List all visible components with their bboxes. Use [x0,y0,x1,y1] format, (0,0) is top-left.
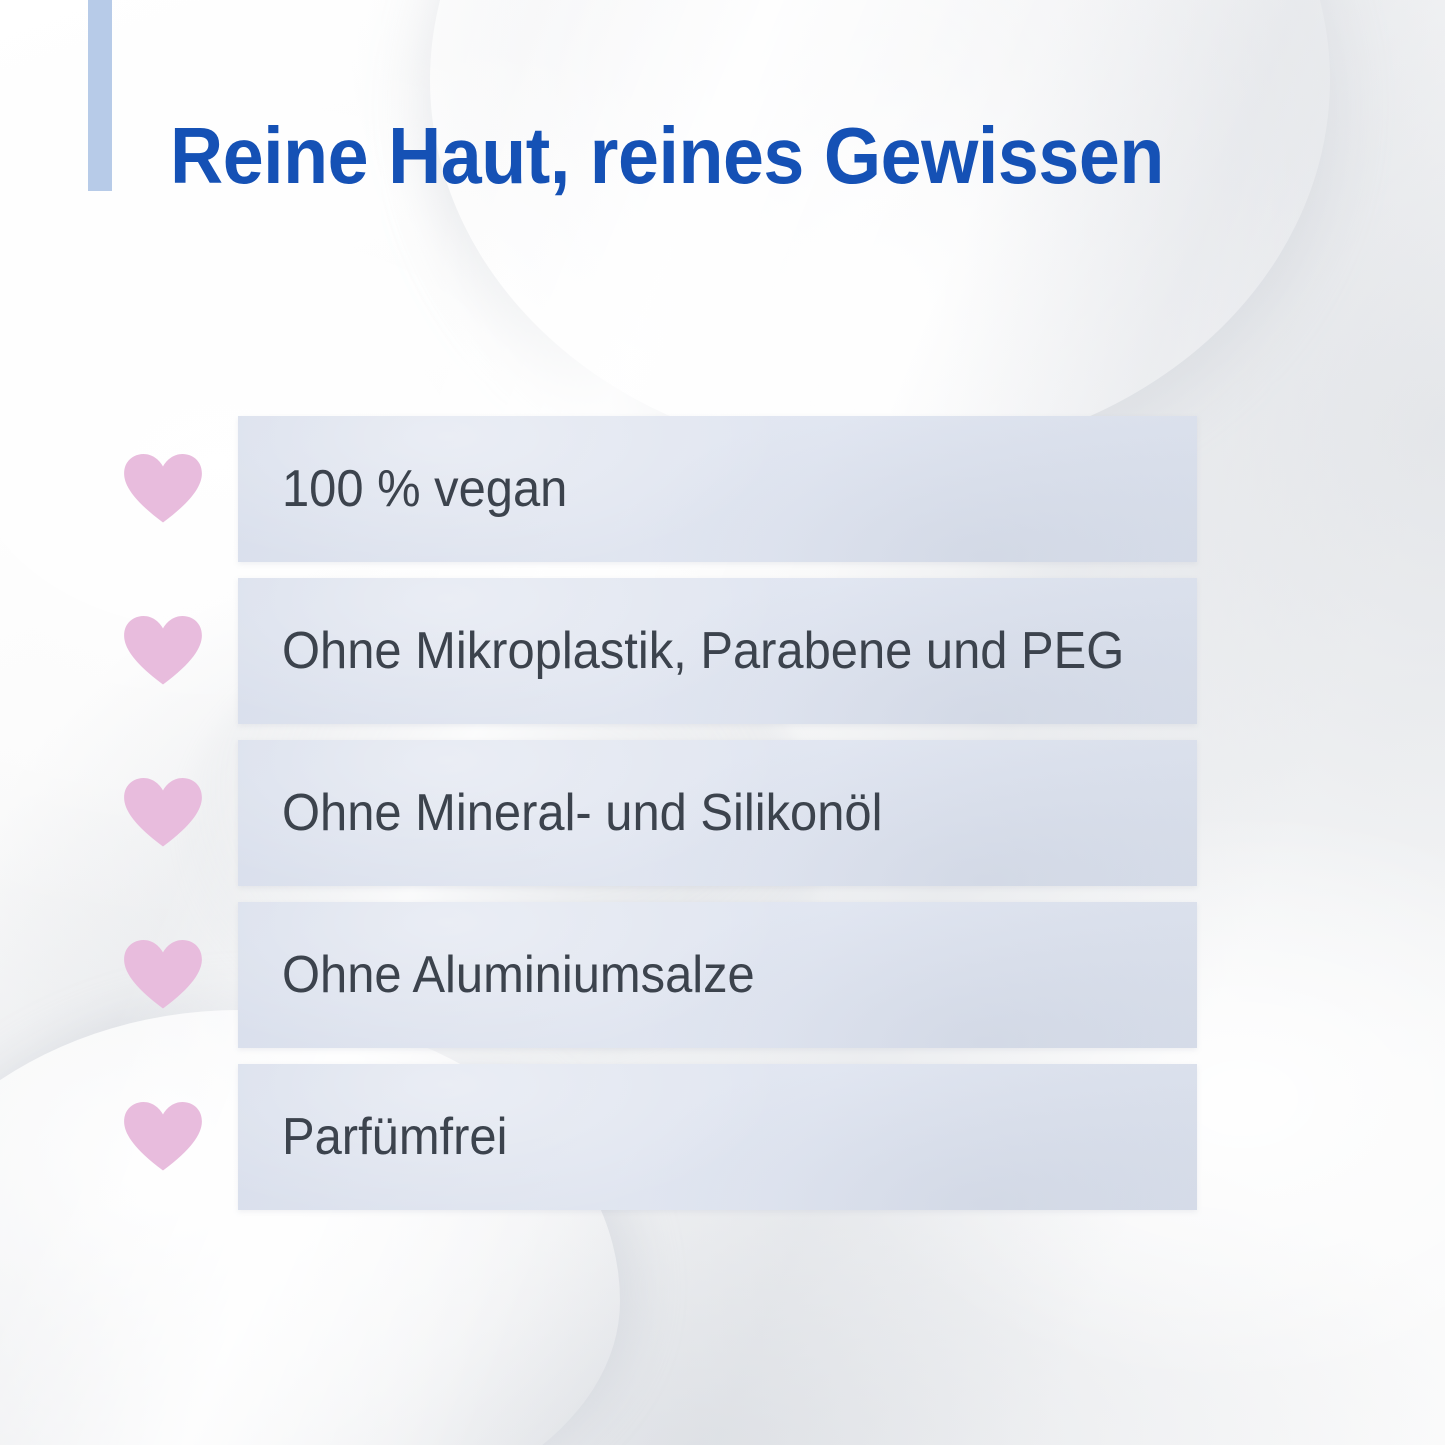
heart-icon [124,616,202,686]
title-accent-bar [88,0,112,191]
list-item: Ohne Mikroplastik, Parabene und PEG [0,578,1445,724]
heart-icon [124,778,202,848]
benefit-label: Ohne Mineral- und Silikonöl [282,783,882,843]
product-benefits-poster: Reine Haut, reines Gewissen 100 % vegan [0,0,1445,1445]
benefit-bar: 100 % vegan [238,416,1197,562]
heart-icon [124,454,202,524]
benefit-bar: Ohne Mineral- und Silikonöl [238,740,1197,886]
list-item: Parfümfrei [0,1064,1445,1210]
benefit-label: Ohne Mikroplastik, Parabene und PEG [282,621,1124,681]
benefit-list: 100 % vegan Ohne Mikroplastik, Parabene … [0,416,1445,1210]
benefit-label: 100 % vegan [282,459,567,519]
list-item: 100 % vegan [0,416,1445,562]
benefit-label: Ohne Aluminiumsalze [282,945,755,1005]
list-item: Ohne Mineral- und Silikonöl [0,740,1445,886]
benefit-label: Parfümfrei [282,1107,507,1167]
benefit-bar: Ohne Mikroplastik, Parabene und PEG [238,578,1197,724]
page-title: Reine Haut, reines Gewissen [170,108,1256,204]
benefit-bar: Ohne Aluminiumsalze [238,902,1197,1048]
heart-icon [124,1102,202,1172]
list-item: Ohne Aluminiumsalze [0,902,1445,1048]
benefit-bar: Parfümfrei [238,1064,1197,1210]
heart-icon [124,940,202,1010]
background-curve-upper [430,0,1330,460]
